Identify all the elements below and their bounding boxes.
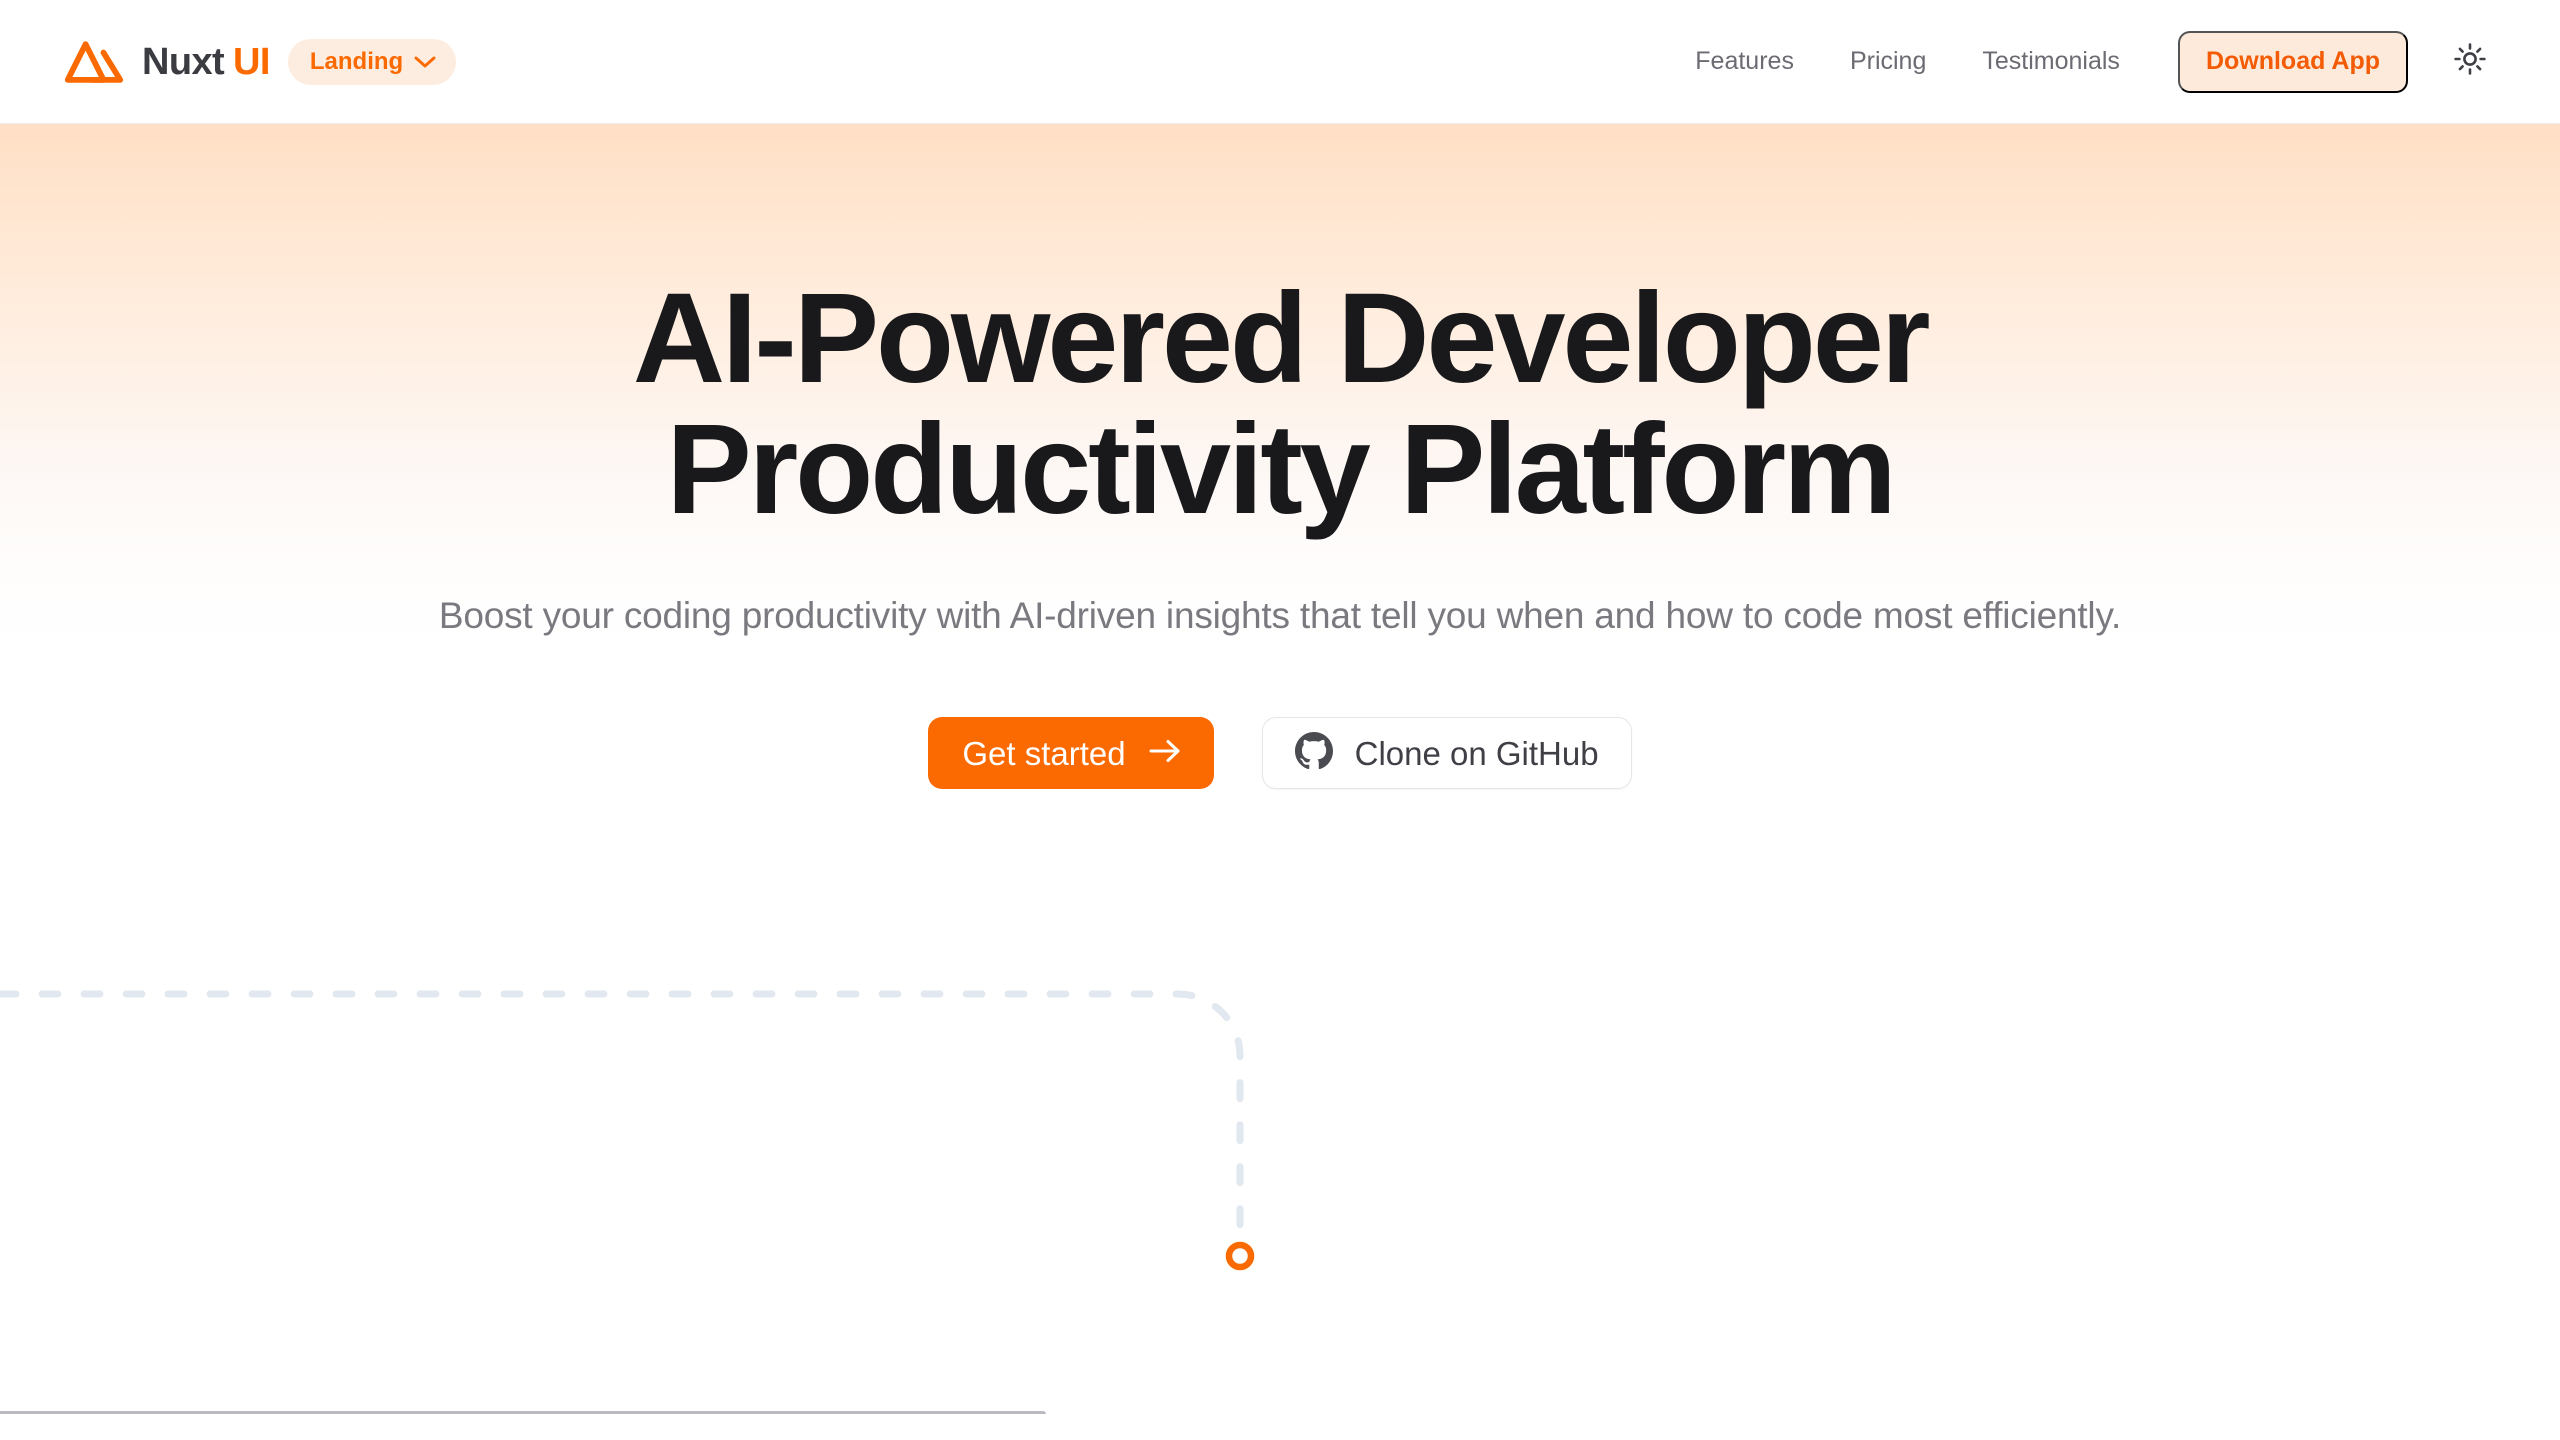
path-node-marker — [1229, 1245, 1251, 1267]
nav-link-testimonials[interactable]: Testimonials — [1954, 49, 2148, 74]
brand-wordmark: NuxtUI — [142, 43, 270, 81]
brand-logo[interactable]: NuxtUI — [62, 41, 270, 83]
brand-name-accent: UI — [233, 41, 270, 83]
site-header: NuxtUI Landing Features Pricing Testimon… — [0, 0, 2560, 124]
github-icon — [1295, 732, 1333, 775]
landing-page: NuxtUI Landing Features Pricing Testimon… — [0, 0, 2560, 1440]
clone-on-github-button[interactable]: Clone on GitHub — [1262, 717, 1632, 789]
get-started-label: Get started — [962, 737, 1125, 770]
hero-subheadline: Boost your coding productivity with AI-d… — [255, 591, 2305, 641]
page-title: AI-Powered Developer Productivity Platfo… — [430, 274, 2130, 535]
get-started-button[interactable]: Get started — [928, 717, 1213, 789]
clone-github-label: Clone on GitHub — [1355, 737, 1599, 770]
nuxt-logo-icon — [62, 41, 126, 83]
primary-navigation: Features Pricing Testimonials Download A… — [1667, 31, 2498, 93]
dashed-path-line — [0, 994, 1240, 1238]
chevron-down-icon — [414, 50, 436, 74]
landing-dropdown-badge[interactable]: Landing — [288, 39, 456, 85]
download-app-button[interactable]: Download App — [2178, 31, 2408, 93]
hero-cta-group: Get started Clone on GitHub — [928, 717, 1631, 789]
lower-panel-top-edge — [0, 1411, 1046, 1414]
hero-section: AI-Powered Developer Productivity Platfo… — [0, 124, 2560, 789]
nav-link-features[interactable]: Features — [1667, 49, 1822, 74]
sun-icon — [2453, 42, 2487, 81]
headline-line-2: Productivity Platform — [666, 398, 1893, 541]
landing-badge-label: Landing — [310, 50, 403, 74]
nav-link-pricing[interactable]: Pricing — [1822, 49, 1954, 74]
theme-toggle-button[interactable] — [2442, 34, 2498, 90]
headline-line-1: AI-Powered Developer — [633, 267, 1928, 410]
arrow-right-icon — [1148, 737, 1182, 770]
brand-name-primary: Nuxt — [142, 41, 224, 83]
